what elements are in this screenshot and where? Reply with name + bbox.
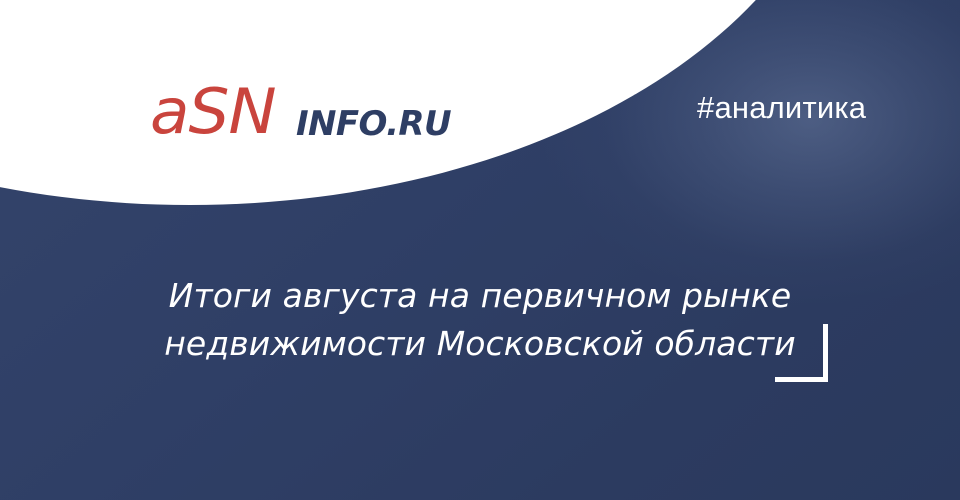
corner-bracket-icon [775, 324, 828, 382]
hashtag-label: #аналитика [697, 89, 866, 126]
social-card: aSN INFO.RU #аналитика Итоги августа на … [0, 0, 960, 500]
logo-secondary-text: INFO.RU [296, 107, 451, 141]
asninfo-ru-logo[interactable]: aSN INFO.RU [150, 84, 440, 150]
page-title-line-1: Итоги августа на первичном рынке [130, 272, 830, 320]
page-title-line-2: недвижимости Московской области [130, 320, 830, 368]
corner-bracket-horizontal [775, 377, 828, 382]
page-title: Итоги августа на первичном рынке недвижи… [130, 272, 830, 368]
corner-bracket-vertical [823, 324, 828, 382]
logo-primary-text: aSN [150, 81, 276, 143]
